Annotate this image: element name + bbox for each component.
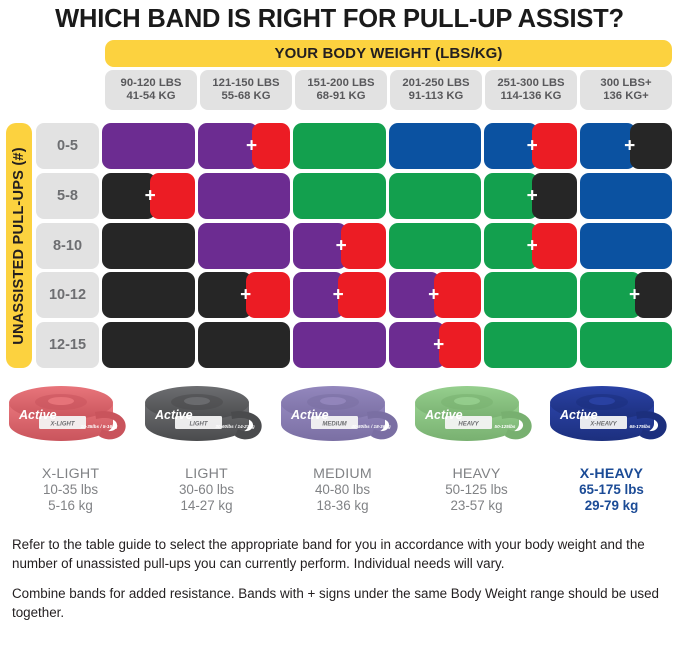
footer-paragraph-2: Combine bands for added resistance. Band… [12, 585, 667, 622]
column-header-lbs: 121-150 LBS [212, 77, 279, 91]
bodyweight-banner: YOUR BODY WEIGHT (LBS/KG) [105, 40, 672, 67]
svg-text:MEDIUM: MEDIUM [322, 422, 347, 428]
column-header-lbs: 90-120 LBS [121, 77, 182, 91]
column-header-kg: 41-54 KG [127, 90, 176, 104]
band-name-label: MEDIUM [275, 466, 410, 482]
band-cell-r1-c1[interactable] [102, 123, 195, 169]
band-swatch-red: + [341, 223, 385, 269]
band-cell-r1-c2[interactable]: + [198, 123, 291, 169]
svg-text:X-LIGHT: X-LIGHT [50, 422, 76, 428]
svg-text:X-HEAVY: X-HEAVY [589, 422, 617, 428]
band-cell-r3-c5[interactable]: + [484, 223, 577, 269]
table-row: 8-10++ [36, 223, 672, 269]
svg-text:65-175lbs: 65-175lbs [630, 424, 651, 429]
band-swatch-green [293, 123, 386, 169]
svg-text:HEAVY: HEAVY [458, 422, 479, 428]
column-header-lbs: 251-300 LBS [497, 77, 564, 91]
band-swatch-purple [293, 223, 347, 269]
band-swatch-green [484, 223, 538, 269]
band-swatch-purple [389, 322, 445, 368]
band-kg-range: 29-79 kg [544, 498, 679, 514]
table-row: 12-15+ [36, 322, 672, 368]
band-cell-r1-c6[interactable]: + [580, 123, 673, 169]
row-cells: + [102, 322, 672, 368]
band-swatch-purple [293, 322, 386, 368]
table-row: 5-8++ [36, 173, 672, 219]
band-cell-r4-c2[interactable]: + [198, 272, 291, 318]
band-kg-range: 5-16 kg [3, 498, 138, 514]
band-cell-r1-c5[interactable]: + [484, 123, 577, 169]
band-name-label: HEAVY [409, 466, 544, 482]
column-header-kg: 136 KG+ [603, 90, 649, 104]
column-header-lbs: 201-250 LBS [402, 77, 469, 91]
band-swatch-blue [580, 223, 673, 269]
band-card-x-light[interactable]: X-LIGHTActive10-35lbs / 5-16kgX-LIGHT10-… [3, 376, 138, 526]
band-swatch-blue [580, 173, 673, 219]
column-header-row: 90-120 LBS41-54 KG121-150 LBS55-68 KG151… [105, 70, 672, 110]
row-cells: ++ [102, 223, 672, 269]
band-image-x-heavy: X-HEAVYActive65-175lbs [544, 376, 679, 464]
band-card-heavy[interactable]: HEAVYActive50-125lbsHEAVY50-125 lbs23-57… [409, 376, 544, 526]
column-header-5: 251-300 LBS114-136 KG [485, 70, 577, 110]
band-cell-r3-c6[interactable] [580, 223, 673, 269]
band-card-medium[interactable]: MEDIUMActive40-80lbs / 18-36kgMEDIUM40-8… [275, 376, 410, 526]
band-swatch-purple [102, 123, 195, 169]
band-cell-r5-c3[interactable] [293, 322, 386, 368]
column-header-6: 300 LBS+136 KG+ [580, 70, 672, 110]
band-cell-r2-c4[interactable] [389, 173, 482, 219]
column-header-kg: 91-113 KG [409, 90, 464, 104]
band-cell-r3-c1[interactable] [102, 223, 195, 269]
band-swatch-purple [293, 272, 344, 318]
band-name-label: LIGHT [139, 466, 274, 482]
band-swatch-black [198, 272, 252, 318]
svg-text:30-60lbs / 14-27kg: 30-60lbs / 14-27kg [215, 424, 255, 429]
band-swatch-green [389, 223, 482, 269]
band-swatch-red: + [532, 123, 576, 169]
band-swatch-black [102, 322, 195, 368]
band-lbs-range: 10-35 lbs [3, 482, 138, 498]
band-swatch-black: + [630, 123, 672, 169]
svg-text:Active: Active [424, 408, 463, 422]
band-cell-r5-c2[interactable] [198, 322, 291, 368]
band-name-label: X-LIGHT [3, 466, 138, 482]
svg-text:50-125lbs: 50-125lbs [495, 424, 516, 429]
svg-text:Active: Active [18, 408, 57, 422]
column-header-lbs: 151-200 LBS [307, 77, 374, 91]
row-cells: ++++ [102, 272, 672, 318]
infographic-root: WHICH BAND IS RIGHT FOR PULL-UP ASSIST? … [0, 0, 679, 648]
band-cell-r4-c4[interactable]: + [389, 272, 482, 318]
band-lbs-range: 40-80 lbs [275, 482, 410, 498]
band-swatch-purple [389, 272, 440, 318]
footer-paragraph-1: Refer to the table guide to select the a… [12, 536, 667, 573]
column-header-lbs: 300 LBS+ [600, 77, 651, 91]
band-name-label: X-HEAVY [544, 466, 679, 482]
band-swatch-purple [198, 223, 291, 269]
band-swatch-green [580, 322, 673, 368]
svg-text:10-35lbs / 5-16kg: 10-35lbs / 5-16kg [81, 424, 118, 429]
band-cell-r2-c5[interactable]: + [484, 173, 577, 219]
band-swatch-blue [389, 123, 482, 169]
svg-text:Active: Active [559, 408, 598, 422]
band-cell-r4-c5[interactable] [484, 272, 577, 318]
band-cell-r3-c3[interactable]: + [293, 223, 386, 269]
band-swatch-red: + [439, 322, 481, 368]
band-swatch-green [484, 322, 577, 368]
band-lbs-range: 50-125 lbs [409, 482, 544, 498]
band-cell-r5-c6[interactable] [580, 322, 673, 368]
band-swatch-black [102, 272, 195, 318]
band-cell-r4-c6[interactable]: + [580, 272, 673, 318]
band-cell-r4-c1[interactable] [102, 272, 195, 318]
band-swatch-purple [198, 173, 291, 219]
row-header-4: 10-12 [36, 272, 99, 318]
band-swatch-red: + [434, 272, 481, 318]
band-cell-r3-c4[interactable] [389, 223, 482, 269]
row-axis-label: UNASSISTED PULL-UPS (#) [6, 123, 32, 368]
band-cell-r1-c3[interactable] [293, 123, 386, 169]
band-swatch-black [102, 223, 195, 269]
svg-text:40-80lbs / 18-36kg: 40-80lbs / 18-36kg [350, 424, 391, 429]
row-axis-label-text: UNASSISTED PULL-UPS (#) [11, 147, 27, 345]
band-kg-range: 18-36 kg [275, 498, 410, 514]
band-cell-r2-c6[interactable] [580, 173, 673, 219]
band-image-heavy: HEAVYActive50-125lbs [409, 376, 544, 464]
band-cell-r5-c1[interactable] [102, 322, 195, 368]
page-title: WHICH BAND IS RIGHT FOR PULL-UP ASSIST? [0, 4, 679, 34]
band-swatch-green [580, 272, 641, 318]
column-header-kg: 114-136 KG [501, 90, 562, 104]
band-lbs-range: 30-60 lbs [139, 482, 274, 498]
band-swatch-blue [580, 123, 636, 169]
band-swatch-red: + [338, 272, 385, 318]
column-header-kg: 55-68 KG [222, 90, 271, 104]
column-header-3: 151-200 LBS68-91 KG [295, 70, 387, 110]
svg-text:Active: Active [154, 408, 193, 422]
band-cell-r4-c3[interactable]: + [293, 272, 386, 318]
band-legend: X-LIGHTActive10-35lbs / 5-16kgX-LIGHT10-… [0, 376, 679, 526]
band-swatch-purple [198, 123, 258, 169]
column-header-4: 201-250 LBS91-113 KG [390, 70, 482, 110]
band-swatch-black: + [532, 173, 576, 219]
row-cells: +++ [102, 123, 672, 169]
band-cell-r2-c1[interactable]: + [102, 173, 195, 219]
band-swatch-red: + [532, 223, 576, 269]
band-swatch-black [198, 322, 291, 368]
band-swatch-green [293, 173, 386, 219]
band-cell-r5-c4[interactable]: + [389, 322, 482, 368]
band-swatch-green [484, 272, 577, 318]
table-row: 10-12++++ [36, 272, 672, 318]
table-grid: 0-5+++5-8++8-10++10-12++++12-15+ [36, 123, 672, 368]
row-cells: ++ [102, 173, 672, 219]
column-header-2: 121-150 LBS55-68 KG [200, 70, 292, 110]
band-swatch-red: + [246, 272, 290, 318]
row-header-5: 12-15 [36, 322, 99, 368]
footer-notes: Refer to the table guide to select the a… [12, 536, 667, 622]
row-header-1: 0-5 [36, 123, 99, 169]
band-cell-r5-c5[interactable] [484, 322, 577, 368]
band-cell-r2-c2[interactable] [198, 173, 291, 219]
band-swatch-green [484, 173, 538, 219]
band-swatch-red: + [150, 173, 194, 219]
band-image-medium: MEDIUMActive40-80lbs / 18-36kg [275, 376, 410, 464]
column-header-1: 90-120 LBS41-54 KG [105, 70, 197, 110]
band-image-x-light: X-LIGHTActive10-35lbs / 5-16kg [3, 376, 138, 464]
band-kg-range: 14-27 kg [139, 498, 274, 514]
band-swatch-black [102, 173, 156, 219]
band-swatch-green [389, 173, 482, 219]
column-header-kg: 68-91 KG [317, 90, 366, 104]
band-cell-r3-c2[interactable] [198, 223, 291, 269]
band-kg-range: 23-57 kg [409, 498, 544, 514]
band-selection-table: YOUR BODY WEIGHT (LBS/KG) 90-120 LBS41-5… [0, 40, 679, 370]
band-swatch-blue [484, 123, 538, 169]
band-card-x-heavy[interactable]: X-HEAVYActive65-175lbsX-HEAVY65-175 lbs2… [544, 376, 679, 526]
band-cell-r1-c4[interactable] [389, 123, 482, 169]
band-image-light: LIGHTActive30-60lbs / 14-27kg [139, 376, 274, 464]
band-lbs-range: 65-175 lbs [544, 482, 679, 498]
band-cell-r2-c3[interactable] [293, 173, 386, 219]
row-header-3: 8-10 [36, 223, 99, 269]
svg-text:LIGHT: LIGHT [190, 422, 209, 428]
svg-text:Active: Active [290, 408, 329, 422]
band-swatch-black: + [635, 272, 672, 318]
band-card-light[interactable]: LIGHTActive30-60lbs / 14-27kgLIGHT30-60 … [139, 376, 274, 526]
table-row: 0-5+++ [36, 123, 672, 169]
band-swatch-red: + [252, 123, 290, 169]
row-header-2: 5-8 [36, 173, 99, 219]
